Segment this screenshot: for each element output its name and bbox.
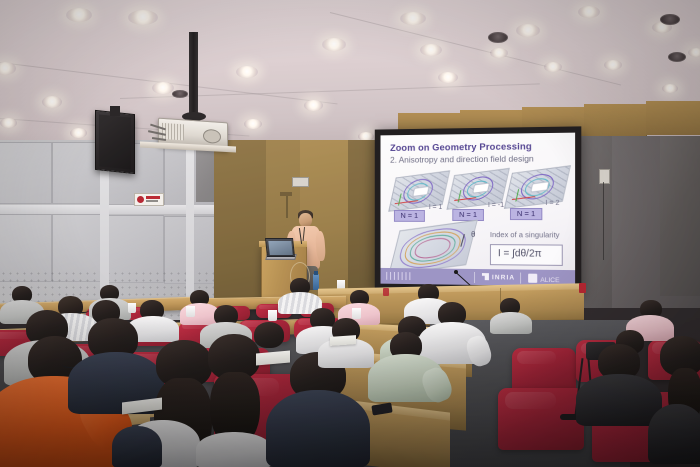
footer-divider	[520, 273, 521, 284]
wall-mounted-loudspeaker	[95, 110, 135, 174]
notes-paper	[330, 335, 356, 346]
bottle-cap	[314, 271, 318, 275]
presentation-slide: Zoom on Geometry Processing 2. Anisotrop…	[381, 133, 576, 287]
audience-shoulders	[648, 404, 700, 464]
figure-badge-1: N = 1	[394, 210, 425, 222]
figure-index-2: I = -1	[488, 202, 504, 209]
inria-logo-text: INRIA	[492, 274, 515, 281]
ceiling-downlight	[420, 44, 442, 56]
singularity-figure-3	[504, 165, 571, 209]
ceiling-downlight	[662, 84, 678, 93]
door-handle-icon	[286, 196, 288, 218]
ceiling-downlight	[70, 128, 87, 138]
formula-caption: Index of a singularity	[490, 230, 560, 239]
ceiling-downlight	[152, 82, 174, 94]
alice-mark-icon	[528, 274, 537, 283]
speaker-grille	[99, 114, 131, 169]
slide-title-primary: Zoom on Geometry Processing	[390, 141, 532, 154]
ceiling-speaker-grille	[172, 90, 188, 98]
figure-badge-2: N = 1	[452, 209, 484, 221]
paper-cup	[352, 308, 361, 319]
ceiling-downlight	[322, 38, 346, 51]
ceiling-downlight	[516, 24, 540, 37]
ceiling-downlight	[688, 48, 700, 57]
projection-screen: Zoom on Geometry Processing 2. Anisotrop…	[381, 133, 576, 287]
ceiling-downlight	[400, 12, 426, 25]
audience-shoulders	[266, 390, 370, 467]
ceiling-speaker-grille	[660, 14, 680, 25]
footer-divider	[474, 272, 475, 283]
eyeglasses-icon	[76, 306, 89, 313]
ceiling-downlight	[490, 48, 508, 58]
sign-emblem-icon	[137, 196, 144, 203]
projector-vent	[162, 123, 184, 141]
ceiling-downlight	[438, 72, 458, 83]
wall-panel	[0, 142, 52, 204]
emergency-notice-sign	[134, 193, 164, 206]
ceiling-speaker-grille	[668, 52, 686, 62]
laptop-screen	[268, 241, 292, 255]
fire-extinguisher-sign	[383, 288, 389, 296]
wall-cable	[603, 182, 604, 260]
paper-cup	[268, 310, 277, 321]
ceiling-downlight	[236, 66, 258, 78]
ceiling-downlight	[578, 6, 600, 18]
wall-pilaster	[186, 142, 194, 297]
projector-mount-pole	[189, 32, 198, 116]
wall-control-plate[interactable]	[599, 169, 610, 184]
sign-text-subline	[146, 200, 158, 202]
paper-cup	[128, 303, 136, 313]
upper-wall-wood-band	[646, 101, 700, 135]
ceiling-downlight	[244, 119, 262, 129]
wall-control-plate[interactable]	[292, 177, 309, 187]
water-bottle	[313, 274, 319, 290]
ceiling-downlight	[304, 100, 323, 111]
figure-badge-3: N = 1	[510, 208, 542, 220]
audience-shoulders	[490, 312, 532, 334]
sign-text-line	[146, 196, 160, 199]
ceiling-downlight	[128, 10, 158, 25]
inria-logo: INRIA	[482, 273, 515, 281]
ceiling-downlight	[66, 8, 92, 22]
ceiling-downlight	[544, 62, 562, 72]
theta-annotation: θ	[471, 230, 475, 239]
ceiling-downlight	[0, 118, 17, 128]
ceiling-downlight	[604, 60, 622, 70]
slide-title-secondary: 2. Anisotropy and direction field design	[390, 153, 534, 164]
audience-shoulders	[196, 432, 272, 467]
presenter-laptop[interactable]	[265, 238, 295, 257]
lecture-hall-photo: Zoom on Geometry Processing 2. Anisotrop…	[0, 0, 700, 467]
formula-text: I = ∫dθ/2π	[498, 248, 542, 259]
ceiling-speaker-grille	[488, 32, 508, 43]
large-singularity-figure	[388, 220, 478, 276]
audience-head	[254, 322, 284, 348]
fire-extinguisher-sign	[579, 283, 586, 293]
stage-back-wall-panel	[214, 140, 266, 300]
presenter-head	[299, 213, 312, 227]
projector-lens	[203, 129, 221, 144]
inria-mark-icon	[482, 273, 489, 280]
upper-wall-wood-band	[584, 104, 647, 137]
wall-vent	[280, 192, 292, 196]
speaker-bracket	[110, 106, 120, 116]
footer-tick-marks	[386, 272, 411, 280]
pointer-tip	[454, 270, 458, 274]
alice-logo: ALICE	[528, 274, 559, 285]
figure-index-3: I = 2	[545, 200, 559, 207]
paper-cup	[186, 306, 195, 317]
ceiling-downlight	[42, 96, 62, 108]
audience-shoulders	[112, 426, 162, 467]
figure-index-1: I = 1	[429, 204, 443, 211]
far-right-wall	[660, 136, 700, 296]
audience-shoulders	[576, 374, 662, 426]
